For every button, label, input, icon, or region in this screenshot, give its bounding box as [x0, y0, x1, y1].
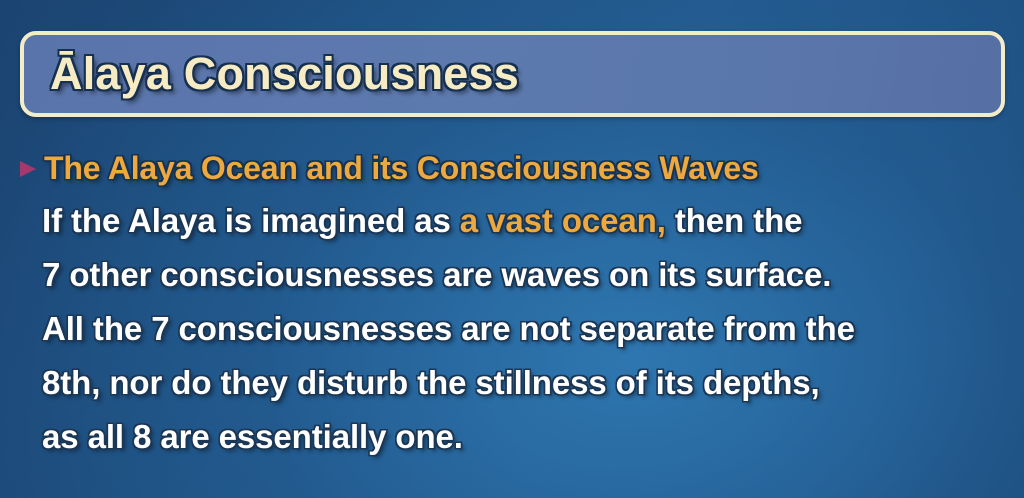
- body-line-5: as all 8 are essentially one.: [16, 410, 1014, 464]
- body-line-3: All the 7 consciousnesses are not separa…: [16, 302, 1014, 356]
- slide-body: The Alaya Ocean and its Consciousness Wa…: [16, 142, 1014, 464]
- presentation-slide: Ālaya Consciousness The Alaya Ocean and …: [0, 0, 1024, 498]
- body-line-4: 8th, nor do they disturb the stillness o…: [16, 356, 1014, 410]
- line-3-segment-1: All the 7 consciousnesses are not separa…: [42, 310, 855, 348]
- line-4-segment-1: 8th, nor do they disturb the stillness o…: [42, 364, 820, 402]
- line-1-segment-2: a vast ocean,: [460, 202, 666, 240]
- line-5-segment-1: as all 8 are essentially one.: [42, 418, 463, 456]
- line-2-segment-1: 7 other consciousnesses are waves on its…: [42, 256, 831, 294]
- bullet-heading-row: The Alaya Ocean and its Consciousness Wa…: [16, 142, 1014, 194]
- triangle-right-icon: [16, 157, 40, 181]
- page-title: Ālaya Consciousness: [24, 48, 519, 100]
- line-1-segment-3: then the: [666, 202, 803, 240]
- line-1-segment-1: If the Alaya is imagined as: [42, 202, 460, 240]
- slide-title-box: Ālaya Consciousness: [20, 31, 1005, 117]
- bullet-heading-text: The Alaya Ocean and its Consciousness Wa…: [44, 150, 759, 187]
- body-line-1: If the Alaya is imagined as a vast ocean…: [16, 194, 1014, 248]
- body-line-2: 7 other consciousnesses are waves on its…: [16, 248, 1014, 302]
